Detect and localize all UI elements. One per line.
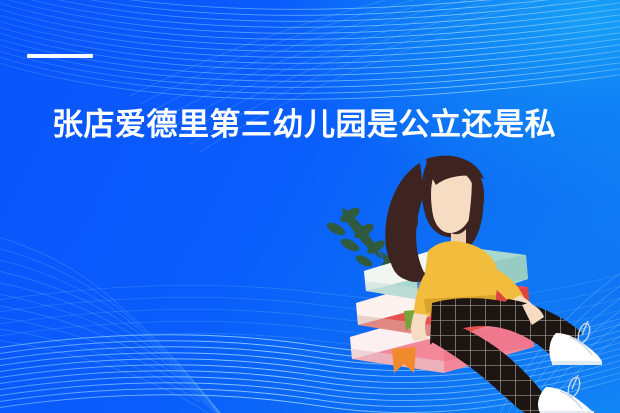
head: [422, 156, 484, 253]
title-underline-rule: [27, 54, 93, 58]
shoe-lower: [538, 375, 594, 413]
illustration-woman-on-books: [320, 155, 620, 413]
bookmark-orange: [392, 347, 416, 373]
page-title: 张店爱德里第三幼儿园是公立还是私: [52, 104, 620, 146]
promo-banner: 张店爱德里第三幼儿园是公立还是私: [0, 0, 620, 413]
left-arc-line-group: [0, 226, 290, 413]
